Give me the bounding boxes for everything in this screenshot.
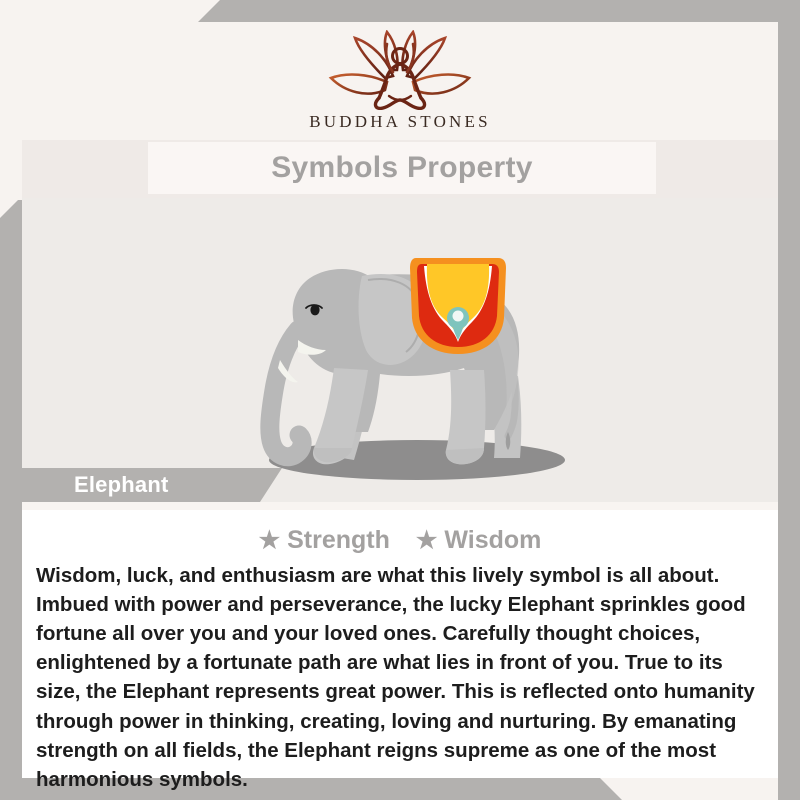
attribute-strength: ★ Strength [259,526,390,555]
symbol-property-card: BUDDHA STONES Symbols Property [0,0,800,800]
frame-top-bar [0,0,800,22]
star-icon: ★ [416,529,438,553]
symbol-name: Elephant [74,472,169,498]
card-canvas: BUDDHA STONES Symbols Property [22,22,778,778]
attribute-wisdom: ★ Wisdom [416,526,542,555]
title-banner: Symbols Property [148,142,656,194]
illustration-stage [22,198,778,510]
attribute-label-wisdom: Wisdom [444,526,541,555]
star-icon: ★ [259,529,281,553]
elephant-illustration [202,218,622,498]
symbol-description: Wisdom, luck, and enthusiasm are what th… [36,561,764,794]
description-panel: ★ Strength ★ Wisdom Wisdom, luck, and en… [22,510,778,778]
frame-right-bar [778,0,800,800]
lotus-meditation-icon [325,30,475,110]
attribute-label-strength: Strength [287,526,390,555]
symbol-name-banner: Elephant [22,468,282,502]
frame-left-bar [0,200,22,800]
brand-logo: BUDDHA STONES [22,22,778,142]
page-title: Symbols Property [271,151,533,185]
attribute-list: ★ Strength ★ Wisdom [22,510,778,555]
brand-name: BUDDHA STONES [309,112,491,132]
elephant-trunk [270,330,302,457]
